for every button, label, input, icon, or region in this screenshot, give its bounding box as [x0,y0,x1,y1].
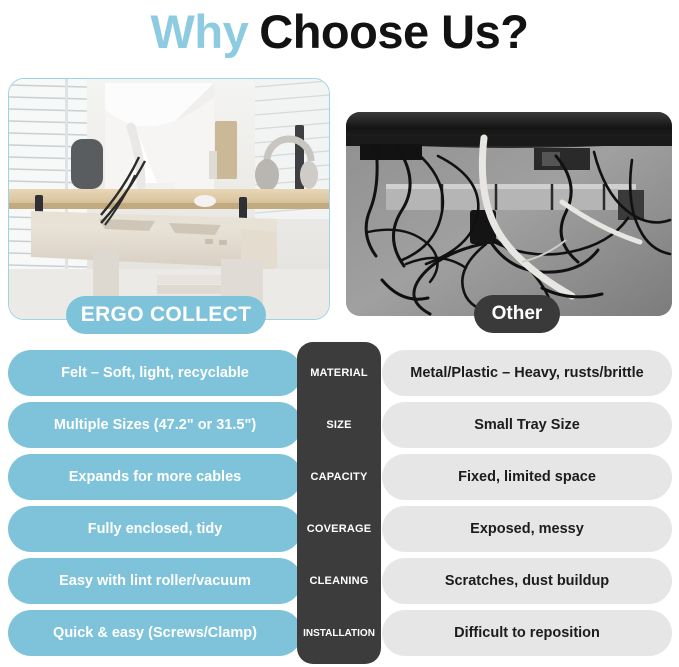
ours-cell-coverage: Fully enclosed, tidy [8,506,302,552]
ours-photo-art [9,79,329,319]
ours-cell-installation: Quick & easy (Screws/Clamp) [8,610,302,656]
attribute-coverage: COVERAGE [297,506,381,552]
attribute-cleaning: CLEANING [297,558,381,604]
badge-ergo-collect: ERGO COLLECT [66,296,266,334]
other-cell-size: Small Tray Size [382,402,672,448]
other-photo-art [346,112,672,316]
product-photo-ours [8,78,330,320]
other-cell-capacity: Fixed, limited space [382,454,672,500]
ours-cell-cleaning: Easy with lint roller/vacuum [8,558,302,604]
page-title: WhyChoose Us? [0,0,679,62]
ours-cell-capacity: Expands for more cables [8,454,302,500]
title-highlight: Why [151,4,249,59]
ours-cell-material: Felt – Soft, light, recyclable [8,350,302,396]
other-cell-material: Metal/Plastic – Heavy, rusts/brittle [382,350,672,396]
other-cell-installation: Difficult to reposition [382,610,672,656]
attribute-capacity: CAPACITY [297,454,381,500]
attribute-installation: INSTALLATION [297,610,381,656]
ours-cell-size: Multiple Sizes (47.2" or 31.5") [8,402,302,448]
attribute-column: MATERIAL SIZE CAPACITY COVERAGE CLEANING… [297,342,381,664]
infographic-page: WhyChoose Us? [0,0,679,667]
badge-other: Other [474,295,560,333]
attribute-material: MATERIAL [297,350,381,396]
product-photo-other [346,112,672,316]
title-rest: Choose Us? [259,4,528,59]
attribute-size: SIZE [297,402,381,448]
other-cell-cleaning: Scratches, dust buildup [382,558,672,604]
other-cell-coverage: Exposed, messy [382,506,672,552]
